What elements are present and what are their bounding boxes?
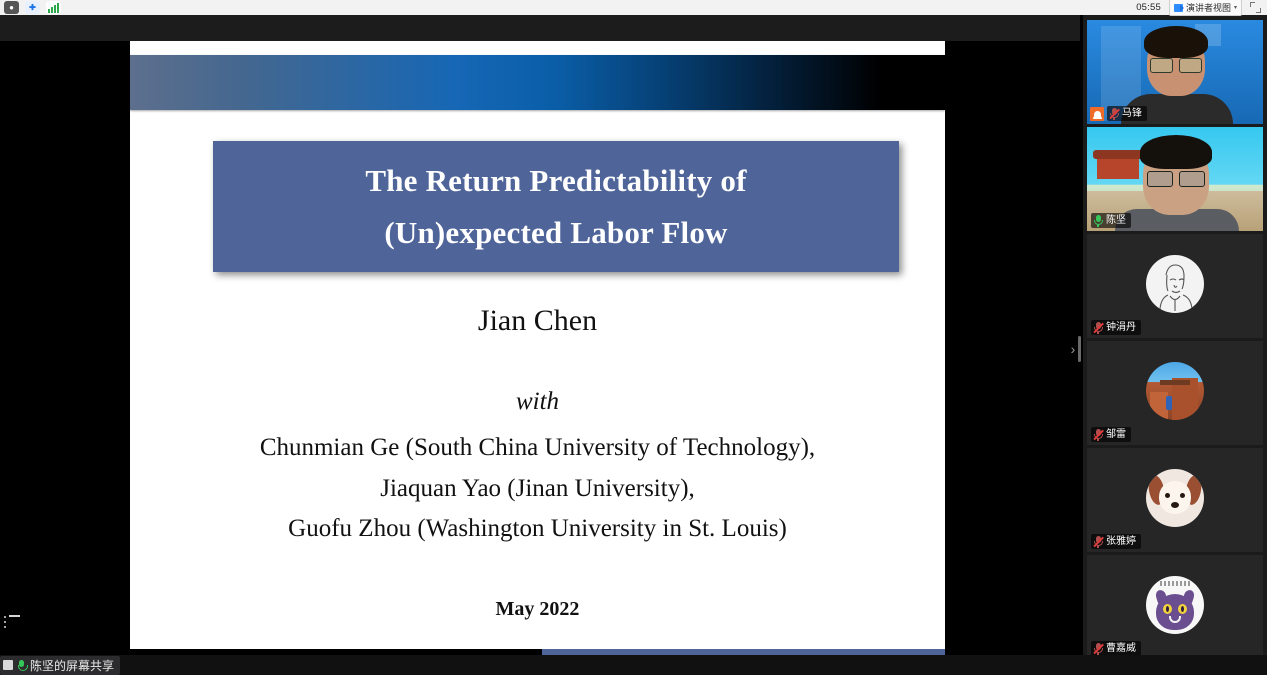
taskbar-item-screenshare[interactable]: 陈坚的屏幕共享 bbox=[0, 656, 120, 675]
participant-name: 钟涓丹 bbox=[1106, 323, 1136, 333]
screen-share-stage: The Return Predictability of (Un)expecte… bbox=[0, 15, 1080, 675]
taskbar-item-label: 陈坚的屏幕共享 bbox=[30, 657, 114, 674]
os-top-bar: ● ✚ bbox=[0, 0, 1267, 15]
coauthor-line-2: Jiaquan Yao (Jinan University), bbox=[130, 469, 945, 510]
microphone-muted-icon bbox=[1093, 322, 1103, 334]
fullscreen-icon[interactable] bbox=[1250, 2, 1261, 13]
participant-name-badge: 邹雷 bbox=[1091, 427, 1131, 442]
avatar bbox=[1146, 255, 1204, 313]
avatar bbox=[1146, 362, 1204, 420]
signal-bars-icon[interactable] bbox=[46, 1, 61, 14]
participant-name-badge: 陈坚 bbox=[1091, 213, 1131, 228]
host-badge-icon bbox=[1090, 107, 1104, 121]
participant-tile[interactable]: 钟涓丹 bbox=[1087, 234, 1263, 338]
participant-tile[interactable]: 曹嘉威 bbox=[1087, 555, 1263, 659]
os-taskbar: 陈坚的屏幕共享 bbox=[0, 655, 1267, 675]
list-view-icon[interactable] bbox=[4, 615, 22, 631]
participants-filmstrip: 马锋 陈坚 bbox=[1083, 15, 1267, 675]
participant-name-badge: 张雅婷 bbox=[1091, 534, 1141, 549]
participant-name: 曹嘉威 bbox=[1106, 644, 1136, 654]
window-icon bbox=[3, 660, 13, 670]
participant-name: 邹雷 bbox=[1106, 430, 1126, 440]
participant-tile[interactable]: 陈坚 bbox=[1087, 127, 1263, 231]
participant-tile[interactable]: 马锋 bbox=[1087, 20, 1263, 124]
stage-left-gutter bbox=[0, 41, 130, 675]
meeting-timer: 05:55 bbox=[1136, 2, 1161, 13]
slide-title-line-2: (Un)expected Labor Flow bbox=[384, 207, 727, 258]
participant-tile[interactable]: 邹雷 bbox=[1087, 341, 1263, 445]
microphone-muted-icon bbox=[1093, 429, 1103, 441]
presentation-slide: The Return Predictability of (Un)expecte… bbox=[130, 41, 945, 671]
line-drawing-avatar-icon bbox=[1146, 255, 1204, 313]
chevron-down-icon: ▾ bbox=[1234, 4, 1237, 11]
view-mode-selector[interactable]: 演讲者视图 ▾ bbox=[1169, 0, 1242, 16]
speaker-view-icon bbox=[1174, 4, 1183, 12]
avatar bbox=[1146, 469, 1204, 527]
os-tray-icons: ● ✚ bbox=[0, 1, 61, 14]
panel-resize-handle[interactable] bbox=[1078, 336, 1081, 362]
slide-title-box: The Return Predictability of (Un)expecte… bbox=[213, 141, 899, 272]
participant-name: 马锋 bbox=[1122, 109, 1142, 119]
participant-name-badge: 曹嘉威 bbox=[1091, 641, 1141, 656]
stage-top-strip bbox=[0, 15, 1080, 41]
participant-name-badge: 马锋 bbox=[1107, 106, 1147, 121]
view-mode-label: 演讲者视图 bbox=[1186, 1, 1231, 14]
participant-name: 张雅婷 bbox=[1106, 537, 1136, 547]
slide-date: May 2022 bbox=[130, 598, 945, 621]
microphone-muted-icon bbox=[1093, 536, 1103, 548]
slide-top-banner bbox=[130, 55, 945, 110]
microphone-on-icon bbox=[1093, 215, 1103, 227]
with-label: with bbox=[130, 388, 945, 416]
participant-name: 陈坚 bbox=[1106, 216, 1126, 226]
coauthor-line-1: Chunmian Ge (South China University of T… bbox=[130, 428, 945, 469]
microphone-on-icon bbox=[17, 660, 26, 671]
coauthor-line-3: Guofu Zhou (Washington University in St.… bbox=[130, 509, 945, 550]
avatar bbox=[1146, 576, 1204, 634]
participant-name-badge: 钟涓丹 bbox=[1091, 320, 1141, 335]
plus-circle-icon[interactable]: ✚ bbox=[25, 1, 40, 14]
shield-icon[interactable]: ● bbox=[4, 1, 19, 14]
microphone-muted-icon bbox=[1109, 108, 1119, 120]
presenter-name: Jian Chen bbox=[130, 306, 945, 336]
slide-body: Jian Chen with Chunmian Ge (South China … bbox=[130, 306, 945, 621]
participant-tile[interactable]: 张雅婷 bbox=[1087, 448, 1263, 552]
microphone-muted-icon bbox=[1093, 643, 1103, 655]
slide-title-line-1: The Return Predictability of bbox=[365, 155, 746, 206]
meeting-controls: 05:55 演讲者视图 ▾ bbox=[1080, 0, 1267, 15]
